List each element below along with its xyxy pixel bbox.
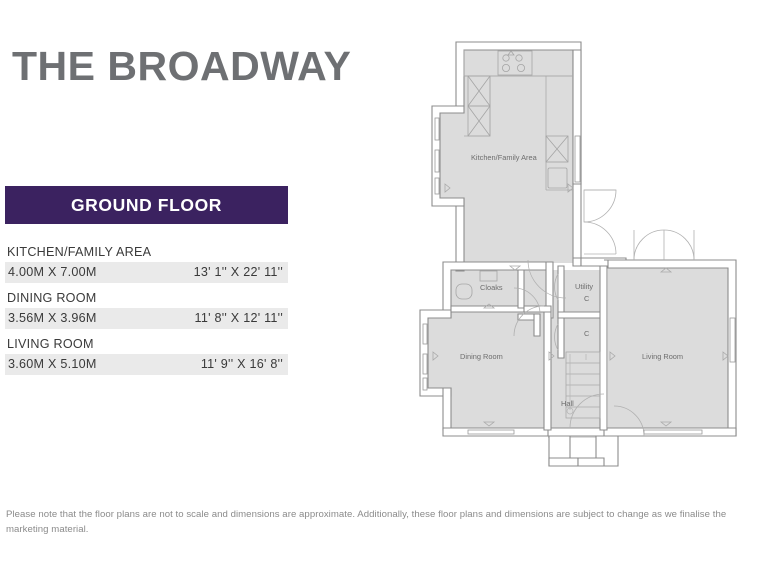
room-dimensions-row: 3.60M X 5.10M 11' 9'' X 16' 8'' (5, 354, 288, 375)
room-label-cloaks: Cloaks (480, 283, 503, 292)
room-imperial: 11' 9'' X 16' 8'' (201, 357, 283, 371)
floor-plan: .wall { fill:#ffffff; stroke:#8c8c8c; st… (418, 18, 768, 490)
room-imperial: 11' 8'' X 12' 11'' (195, 311, 283, 325)
room-label-hall: Hall (561, 399, 574, 408)
room-imperial: 13' 1'' X 22' 11'' (194, 265, 283, 279)
room-name: KITCHEN/FAMILY AREA (5, 243, 288, 262)
room-dimension-list: KITCHEN/FAMILY AREA 4.00M X 7.00M 13' 1'… (5, 243, 288, 381)
room-entry-living: LIVING ROOM 3.60M X 5.10M 11' 9'' X 16' … (5, 335, 288, 375)
room-dimensions-row: 4.00M X 7.00M 13' 1'' X 22' 11'' (5, 262, 288, 283)
floor-plan-drawing: .wall { fill:#ffffff; stroke:#8c8c8c; st… (418, 18, 768, 490)
cupboard-label-utility: C (584, 294, 590, 303)
room-dimensions-row: 3.56M X 3.96M 11' 8'' X 12' 11'' (5, 308, 288, 329)
room-metric: 3.60M X 5.10M (8, 357, 97, 371)
room-label-dining: Dining Room (460, 352, 503, 361)
room-entry-kitchen: KITCHEN/FAMILY AREA 4.00M X 7.00M 13' 1'… (5, 243, 288, 283)
floor-banner: GROUND FLOOR (5, 186, 288, 224)
room-metric: 4.00M X 7.00M (8, 265, 97, 279)
cupboard-label-hall: C (584, 329, 590, 338)
room-label-living: Living Room (642, 352, 683, 361)
room-entry-dining: DINING ROOM 3.56M X 3.96M 11' 8'' X 12' … (5, 289, 288, 329)
info-panel: THE BROADWAY GROUND FLOOR KITCHEN/FAMILY… (0, 0, 420, 500)
page-title: THE BROADWAY (12, 46, 351, 87)
room-metric: 3.56M X 3.96M (8, 311, 97, 325)
room-label-kitchen: Kitchen/Family Area (471, 153, 538, 162)
room-label-utility: Utility (575, 282, 593, 291)
disclaimer-text: Please note that the floor plans are not… (6, 508, 762, 538)
floor-banner-label: GROUND FLOOR (71, 195, 222, 216)
room-name: DINING ROOM (5, 289, 288, 308)
room-name: LIVING ROOM (5, 335, 288, 354)
